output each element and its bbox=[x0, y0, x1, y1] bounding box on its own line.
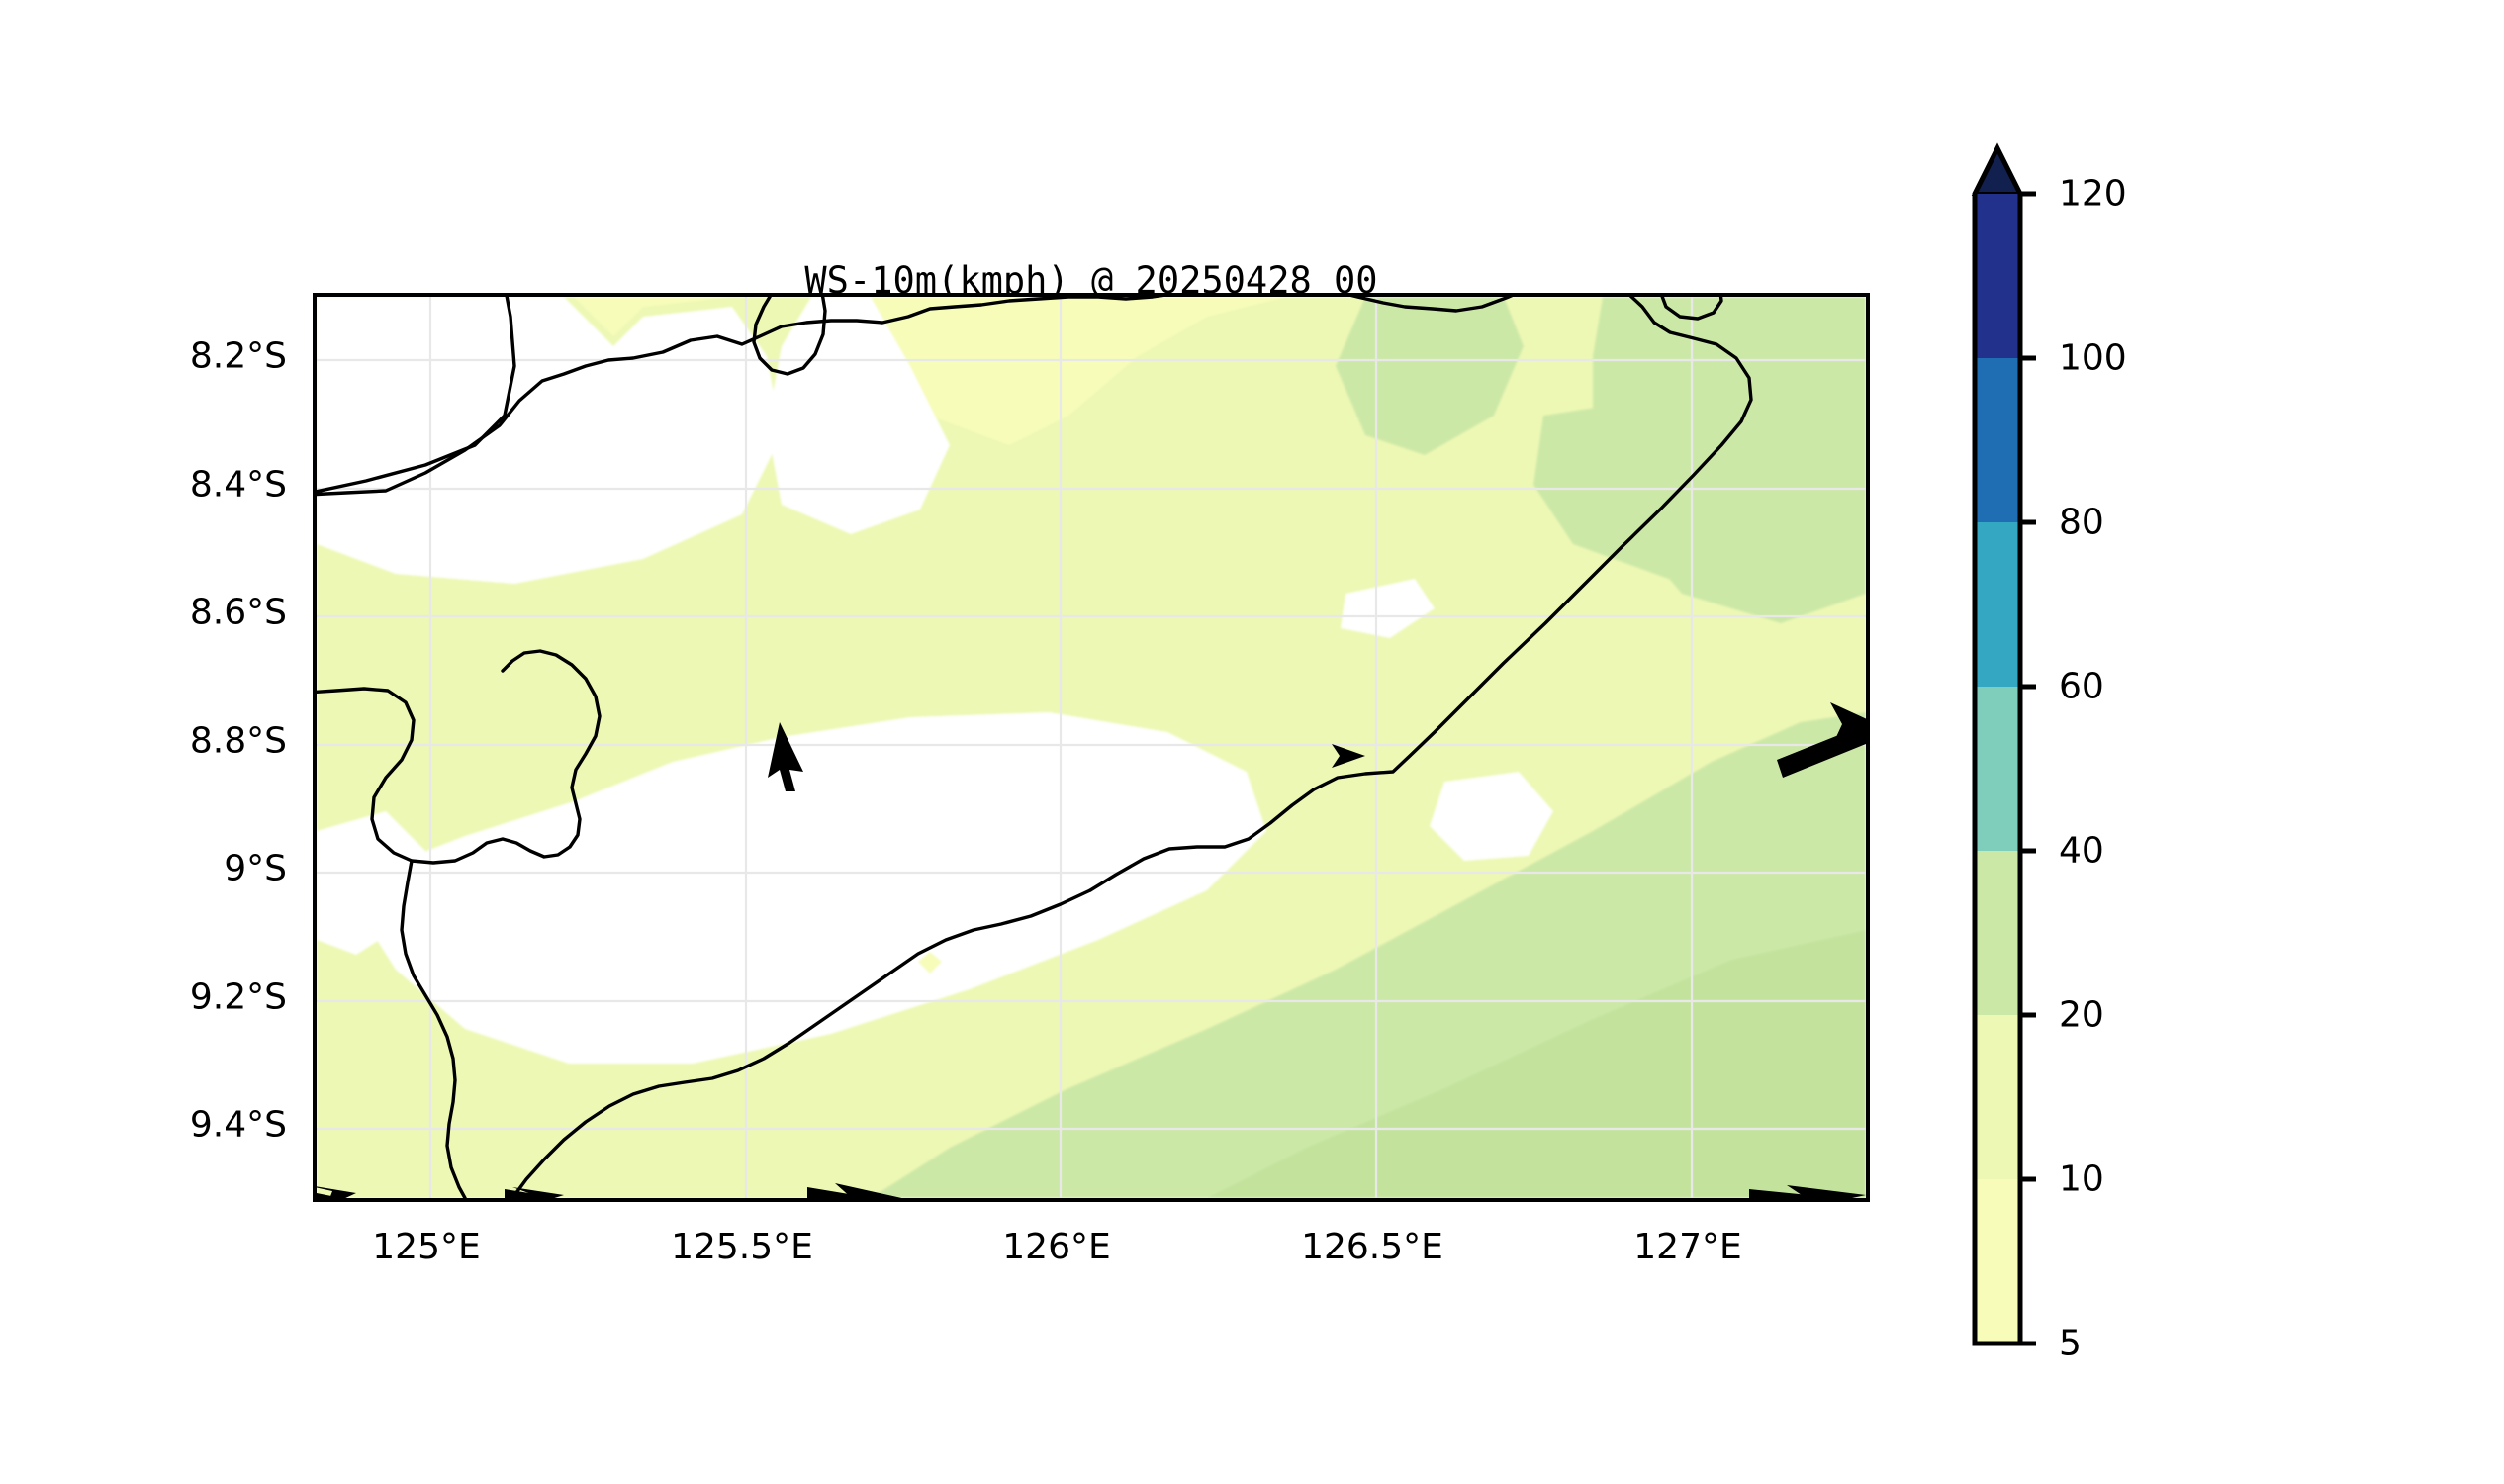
ytick-label-9.2S: 9.2°S bbox=[99, 977, 287, 1018]
xtick-label-126.5E: 126.5°E bbox=[1301, 1227, 1443, 1267]
ytick-label-9S: 9°S bbox=[99, 849, 287, 889]
colorbar-tick-label-40: 40 bbox=[2059, 831, 2104, 872]
colorbar-tick-label-60: 60 bbox=[2059, 667, 2104, 707]
ytick-label-9.4S: 9.4°S bbox=[99, 1105, 287, 1146]
colorbar-band-5-10 bbox=[1975, 1179, 2020, 1344]
colorbar-tick-label-120: 120 bbox=[2059, 174, 2127, 215]
wind-speed-colorbar[interactable] bbox=[1975, 194, 2020, 1344]
ytick-label-8.2S: 8.2°S bbox=[99, 336, 287, 377]
xtick-label-125E: 125°E bbox=[372, 1227, 480, 1267]
xtick-label-125.5E: 125.5°E bbox=[671, 1227, 813, 1267]
colorbar-tick-label-80: 80 bbox=[2059, 503, 2104, 543]
colorbar-extend-arrow bbox=[1975, 148, 2020, 194]
ytick-label-8.4S: 8.4°S bbox=[99, 465, 287, 506]
colorbar-band-80-100 bbox=[1975, 358, 2020, 522]
map-plot-area[interactable] bbox=[313, 293, 1870, 1202]
colorbar-band-40-60 bbox=[1975, 687, 2020, 851]
figure-canvas: WS-10m(kmph) @ 20250428_00 Simulation Ti… bbox=[0, 0, 2504, 1484]
xtick-label-126E: 126°E bbox=[1002, 1227, 1110, 1267]
colorbar-tick-label-20: 20 bbox=[2059, 995, 2104, 1036]
colorbar-band-100-120 bbox=[1975, 194, 2020, 358]
ytick-label-8.8S: 8.8°S bbox=[99, 721, 287, 762]
colorbar-band-60-80 bbox=[1975, 522, 2020, 687]
map-contour-svg bbox=[317, 297, 1866, 1198]
colorbar-tick-label-100: 100 bbox=[2059, 338, 2127, 379]
colorbar-tick-label-10: 10 bbox=[2059, 1159, 2104, 1200]
colorbar-band-10-20 bbox=[1975, 1015, 2020, 1179]
ytick-label-8.6S: 8.6°S bbox=[99, 593, 287, 633]
colorbar-svg bbox=[1959, 125, 2036, 1421]
xtick-label-127E: 127°E bbox=[1633, 1227, 1741, 1267]
colorbar-tick-label-5: 5 bbox=[2059, 1324, 2082, 1364]
colorbar-band-20-40 bbox=[1975, 851, 2020, 1015]
